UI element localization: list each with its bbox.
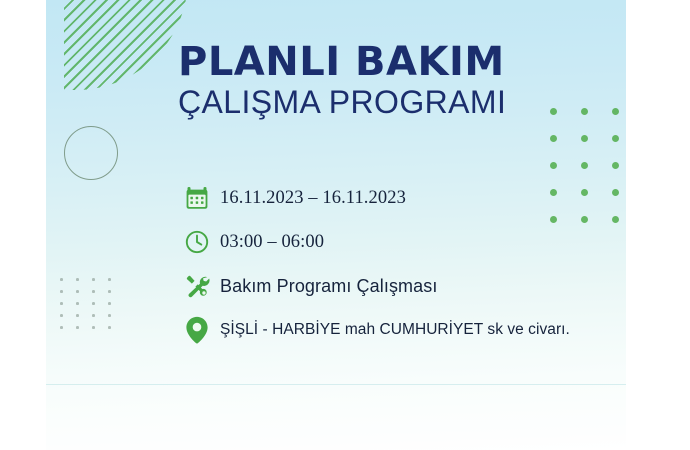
diagonal-stripes-decoration bbox=[64, 0, 188, 90]
detail-value-work-type: Bakım Programı Çalışması bbox=[220, 276, 437, 297]
dot bbox=[92, 278, 95, 281]
dot bbox=[92, 302, 95, 305]
dot bbox=[60, 326, 63, 329]
detail-value-date: 16.11.2023 – 16.11.2023 bbox=[220, 188, 406, 209]
dot bbox=[92, 326, 95, 329]
dot bbox=[76, 302, 79, 305]
dot bbox=[92, 290, 95, 293]
dot bbox=[612, 162, 619, 169]
dot bbox=[60, 302, 63, 305]
dot bbox=[108, 326, 111, 329]
dot bbox=[108, 302, 111, 305]
page-subtitle: ÇALIŞMA PROGRAMI bbox=[178, 86, 608, 120]
dot bbox=[76, 278, 79, 281]
dot bbox=[76, 314, 79, 317]
dot bbox=[581, 135, 588, 142]
dot bbox=[60, 314, 63, 317]
detail-row-location: ŞİŞLİ - HARBİYE mah CUMHURİYET sk ve civ… bbox=[174, 308, 624, 352]
dot bbox=[92, 314, 95, 317]
dot bbox=[612, 108, 619, 115]
notice-canvas: PLANLI BAKIM ÇALIŞMA PROGRAMI bbox=[0, 0, 690, 450]
dot bbox=[108, 278, 111, 281]
dot bbox=[60, 278, 63, 281]
detail-value-time: 03:00 – 06:00 bbox=[220, 232, 324, 253]
detail-row-time: 03:00 – 06:00 bbox=[174, 220, 624, 264]
detail-row-work-type: Bakım Programı Çalışması bbox=[174, 264, 624, 308]
dot bbox=[60, 290, 63, 293]
dot bbox=[108, 290, 111, 293]
dot bbox=[76, 290, 79, 293]
calendar-icon bbox=[174, 178, 220, 218]
page-title: PLANLI BAKIM bbox=[178, 42, 608, 82]
dot bbox=[76, 326, 79, 329]
detail-value-location: ŞİŞLİ - HARBİYE mah CUMHURİYET sk ve civ… bbox=[220, 321, 570, 339]
circle-outline-decoration bbox=[64, 126, 118, 180]
dot bbox=[550, 135, 557, 142]
notice-heading: PLANLI BAKIM ÇALIŞMA PROGRAMI bbox=[178, 42, 608, 120]
notice-panel: PLANLI BAKIM ÇALIŞMA PROGRAMI bbox=[46, 0, 626, 450]
tools-icon bbox=[174, 266, 220, 306]
dot bbox=[550, 162, 557, 169]
notice-details-list: 16.11.2023 – 16.11.2023 03:00 – 06:00 bbox=[174, 176, 624, 352]
location-pin-icon bbox=[174, 310, 220, 350]
dot bbox=[108, 314, 111, 317]
clock-icon bbox=[174, 222, 220, 262]
dot bbox=[581, 162, 588, 169]
detail-row-date: 16.11.2023 – 16.11.2023 bbox=[174, 176, 624, 220]
dot-grid-left-decoration bbox=[60, 278, 124, 338]
dot bbox=[612, 135, 619, 142]
